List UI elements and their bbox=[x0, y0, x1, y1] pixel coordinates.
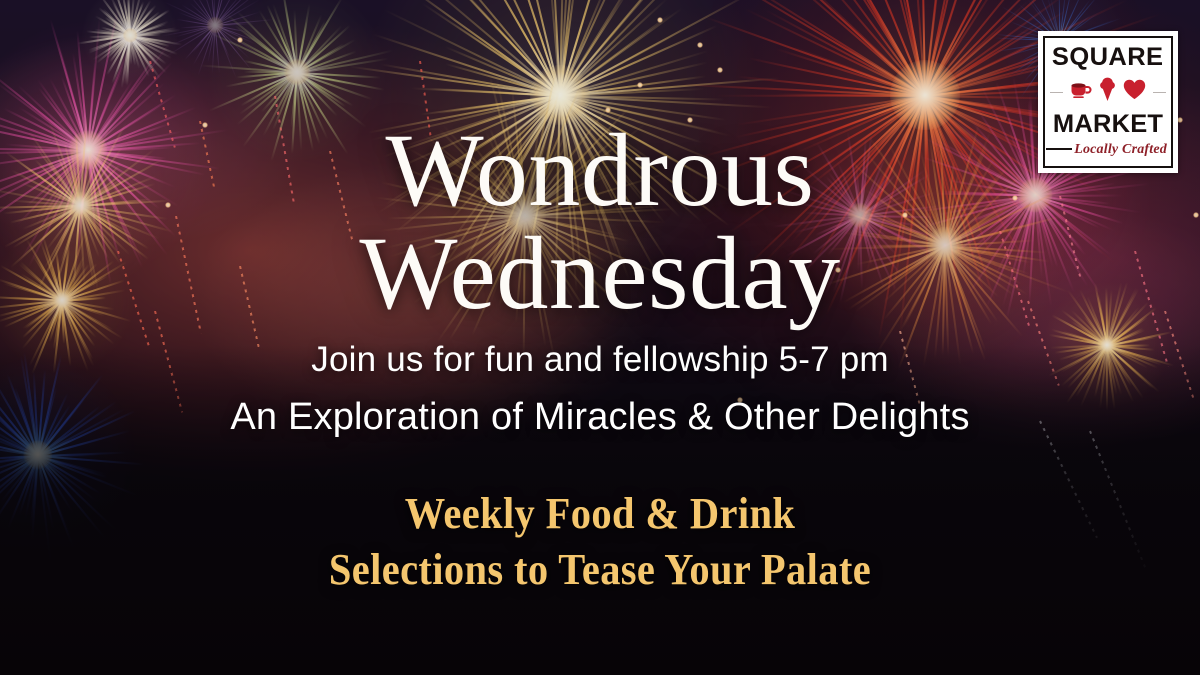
square-market-logo[interactable]: SQUARE bbox=[1038, 31, 1178, 173]
coffee-cup-icon bbox=[1070, 80, 1092, 104]
subtitle-time: Join us for fun and fellowship 5-7 pm bbox=[0, 340, 1200, 380]
highlight-text: Weekly Food & Drink Selections to Tease … bbox=[48, 486, 1152, 598]
poster-title: Wondrous Wednesday bbox=[0, 120, 1200, 326]
logo-tagline: Locally Crafted bbox=[1074, 142, 1167, 158]
highlight-line-1: Weekly Food & Drink bbox=[48, 486, 1152, 542]
logo-tagline-row: Locally Crafted bbox=[1045, 142, 1171, 158]
logo-line-2: MARKET bbox=[1053, 112, 1163, 137]
subtitle-description: An Exploration of Miracles & Other Delig… bbox=[0, 396, 1200, 439]
tagline-dash-icon bbox=[1046, 148, 1072, 150]
title-line-2: Wednesday bbox=[0, 223, 1200, 326]
logo-line-1: SQUARE bbox=[1052, 45, 1164, 70]
ice-cream-cone-icon bbox=[1099, 77, 1116, 107]
logo-frame: SQUARE bbox=[1043, 36, 1173, 168]
highlight-line-2: Selections to Tease Your Palate bbox=[48, 542, 1152, 598]
title-line-1: Wondrous bbox=[0, 120, 1200, 223]
heart-icon bbox=[1123, 79, 1146, 105]
promotional-poster: Wondrous Wednesday Join us for fun and f… bbox=[0, 0, 1200, 675]
logo-icon-row bbox=[1045, 77, 1171, 107]
